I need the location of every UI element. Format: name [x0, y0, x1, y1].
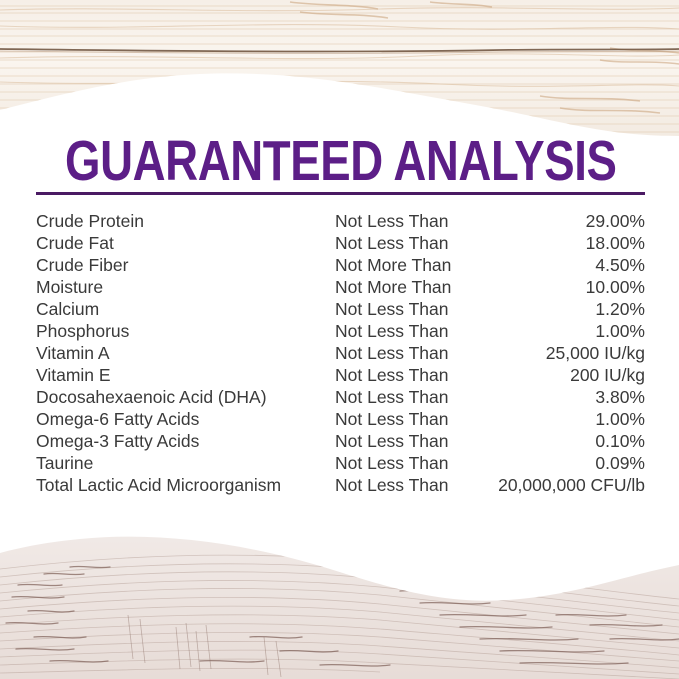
nutrient-name: Crude Fat: [36, 232, 335, 254]
nutrient-name: Crude Protein: [36, 210, 335, 232]
nutrient-name: Vitamin A: [36, 342, 335, 364]
bottom-wood-background: [0, 519, 679, 679]
nutrient-name: Omega-6 Fatty Acids: [36, 408, 335, 430]
nutrient-qualifier: Not More Than: [335, 254, 485, 276]
nutrient-value: 1.00%: [485, 408, 645, 430]
nutrient-value: 29.00%: [485, 210, 645, 232]
top-wood-texture: [0, 0, 679, 136]
table-row: Total Lactic Acid MicroorganismNot Less …: [36, 474, 645, 496]
nutrient-name: Phosphorus: [36, 320, 335, 342]
nutrient-name: Moisture: [36, 276, 335, 298]
nutrient-name: Calcium: [36, 298, 335, 320]
nutrient-value: 200 IU/kg: [485, 364, 645, 386]
nutrient-qualifier: Not Less Than: [335, 342, 485, 364]
nutrient-qualifier: Not Less Than: [335, 364, 485, 386]
nutrient-value: 1.20%: [485, 298, 645, 320]
nutrient-name: Taurine: [36, 452, 335, 474]
table-row: CalciumNot Less Than1.20%: [36, 298, 645, 320]
nutrient-name: Omega-3 Fatty Acids: [36, 430, 335, 452]
nutrient-value: 20,000,000 CFU/lb: [485, 474, 645, 496]
nutrient-value: 1.00%: [485, 320, 645, 342]
nutrient-name: Total Lactic Acid Microorganism: [36, 474, 335, 496]
nutrient-value: 25,000 IU/kg: [485, 342, 645, 364]
table-row: Docosahexaenoic Acid (DHA)Not Less Than3…: [36, 386, 645, 408]
nutrient-qualifier: Not Less Than: [335, 430, 485, 452]
nutrient-name: Vitamin E: [36, 364, 335, 386]
nutrient-qualifier: Not Less Than: [335, 452, 485, 474]
guaranteed-analysis-panel: GUARANTEED ANALYSIS Crude ProteinNot Les…: [0, 0, 679, 679]
table-row: Vitamin ENot Less Than200 IU/kg: [36, 364, 645, 386]
nutrient-qualifier: Not Less Than: [335, 386, 485, 408]
nutrient-name: Crude Fiber: [36, 254, 335, 276]
table-row: Omega-6 Fatty AcidsNot Less Than1.00%: [36, 408, 645, 430]
nutrient-qualifier: Not Less Than: [335, 408, 485, 430]
nutrient-qualifier: Not Less Than: [335, 474, 485, 496]
table-row: MoistureNot More Than10.00%: [36, 276, 645, 298]
nutrient-value: 3.80%: [485, 386, 645, 408]
nutrient-name: Docosahexaenoic Acid (DHA): [36, 386, 335, 408]
nutrient-value: 10.00%: [485, 276, 645, 298]
nutrient-qualifier: Not Less Than: [335, 232, 485, 254]
table-row: Crude FatNot Less Than18.00%: [36, 232, 645, 254]
nutrient-value: 18.00%: [485, 232, 645, 254]
table-row: Vitamin ANot Less Than25,000 IU/kg: [36, 342, 645, 364]
guaranteed-analysis-table: Crude ProteinNot Less Than29.00%Crude Fa…: [36, 210, 645, 496]
nutrient-value: 4.50%: [485, 254, 645, 276]
table-row: PhosphorusNot Less Than1.00%: [36, 320, 645, 342]
page-title: GUARANTEED ANALYSIS: [36, 133, 646, 190]
table-row: Crude ProteinNot Less Than29.00%: [36, 210, 645, 232]
table-row: TaurineNot Less Than0.09%: [36, 452, 645, 474]
title-divider: [36, 192, 645, 195]
nutrient-qualifier: Not Less Than: [335, 298, 485, 320]
nutrient-qualifier: Not Less Than: [335, 320, 485, 342]
nutrient-qualifier: Not More Than: [335, 276, 485, 298]
nutrient-value: 0.10%: [485, 430, 645, 452]
top-wood-background: [0, 0, 679, 136]
nutrient-value: 0.09%: [485, 452, 645, 474]
table-row: Crude FiberNot More Than4.50%: [36, 254, 645, 276]
bottom-wood-texture: [0, 519, 679, 679]
table-row: Omega-3 Fatty AcidsNot Less Than0.10%: [36, 430, 645, 452]
nutrient-qualifier: Not Less Than: [335, 210, 485, 232]
